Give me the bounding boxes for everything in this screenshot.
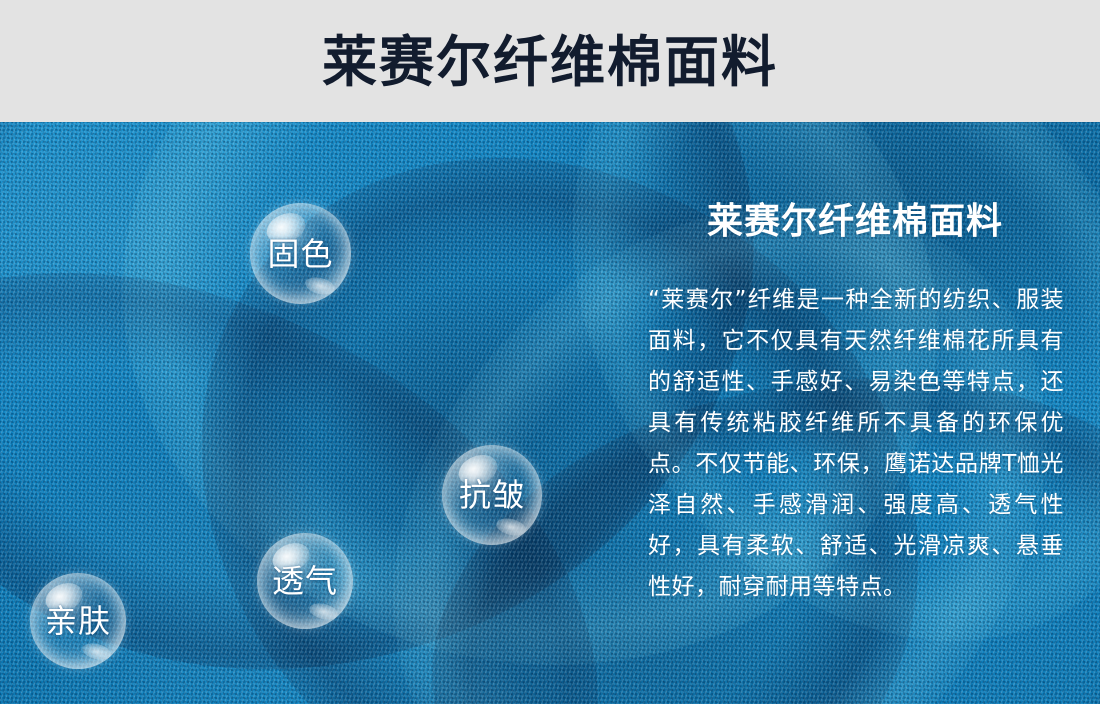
feature-bubble-label: 亲肤 bbox=[45, 605, 111, 637]
header-band: 莱赛尔纤维棉面料 bbox=[0, 0, 1100, 122]
info-panel-body-text: “莱赛尔”纤维是一种全新的纺织、服装面料，它不仅具有天然纤维棉花所具有的舒适性、… bbox=[640, 280, 1070, 608]
feature-bubble-qin-fu: 亲肤 bbox=[30, 573, 126, 669]
feature-bubble-gu-se: 固色 bbox=[250, 203, 351, 304]
fabric-photo: 固色 抗皱 透气 亲肤 莱赛尔纤维棉面料 “莱赛尔”纤维是一种全新的纺织、服装面… bbox=[0, 122, 1100, 704]
info-panel: 莱赛尔纤维棉面料 “莱赛尔”纤维是一种全新的纺织、服装面料，它不仅具有天然纤维棉… bbox=[640, 202, 1070, 608]
product-banner: 莱赛尔纤维棉面料 固色 抗皱 透气 亲肤 莱赛尔纤维棉面料 “莱赛尔”纤维是一种… bbox=[0, 0, 1100, 704]
info-panel-heading: 莱赛尔纤维棉面料 bbox=[640, 202, 1070, 242]
feature-bubble-label: 固色 bbox=[267, 238, 333, 270]
feature-bubble-label: 抗皱 bbox=[459, 479, 525, 511]
page-title: 莱赛尔纤维棉面料 bbox=[322, 35, 778, 90]
feature-bubble-tou-qi: 透气 bbox=[257, 533, 353, 629]
feature-bubble-label: 透气 bbox=[272, 565, 338, 597]
feature-bubble-kang-zhou: 抗皱 bbox=[442, 445, 542, 545]
